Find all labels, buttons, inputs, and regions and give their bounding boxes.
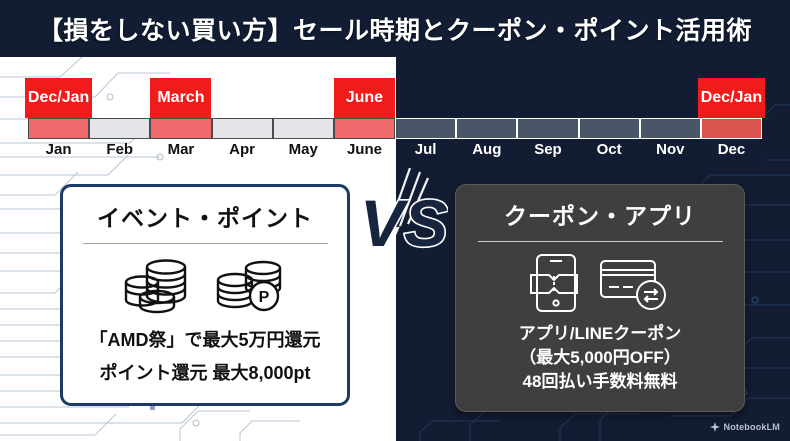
timeline-cell-oct (579, 118, 640, 139)
card-left-title: イベント・ポイント (97, 199, 313, 233)
card-event-points: イベント・ポイント (60, 184, 350, 406)
card-left-icons: P (123, 254, 287, 316)
timeline-month-label-jan: Jan (28, 140, 89, 160)
timeline-month-label-jul: Jul (395, 140, 456, 160)
card-right-line-0: アプリ/LINEクーポン (519, 322, 681, 346)
timeline-cell-apr (212, 118, 273, 139)
card-right-lines: アプリ/LINEクーポン（最大5,000円OFF）48回払い手数料無料 (456, 322, 744, 394)
timeline: Dec/JanMarchJuneDec/Jan JanFebMarAprMayJ… (28, 78, 762, 158)
coin-stack-icon (123, 256, 201, 314)
timeline-month-label-may: May (273, 140, 334, 160)
card-right-title: クーポン・アプリ (504, 197, 696, 231)
timeline-month-label-feb: Feb (89, 140, 150, 160)
card-left-divider (83, 243, 328, 244)
point-coin-icon: P (215, 256, 287, 314)
timeline-cell-sep (517, 118, 578, 139)
credit-card-exchange-icon (599, 253, 671, 313)
timeline-badge-1: March (150, 78, 211, 118)
timeline-badge-3: Dec/Jan (698, 78, 765, 118)
page-title: 【損をしない買い方】セール時期とクーポン・ポイント活用術 (38, 11, 752, 47)
timeline-cell-feb (89, 118, 150, 139)
header-bar: 【損をしない買い方】セール時期とクーポン・ポイント活用術 (0, 0, 790, 57)
card-left-lines: 「AMD祭」で最大5万円還元ポイント還元 最大8,000pt (63, 324, 347, 391)
vs-badge: VS (358, 168, 448, 280)
timeline-month-labels: JanFebMarAprMayJuneJulAugSepOctNovDec (28, 140, 762, 160)
lightning-bolt-icon: VS (358, 168, 448, 280)
card-right-icons (529, 252, 671, 314)
timeline-badge-2: June (334, 78, 395, 118)
timeline-cell-dec (701, 118, 762, 139)
timeline-month-label-dec: Dec (701, 140, 762, 160)
timeline-month-label-mar: Mar (150, 140, 211, 160)
timeline-cell-mar (150, 118, 211, 139)
card-right-divider (478, 241, 723, 242)
timeline-month-label-sep: Sep (517, 140, 578, 160)
smartphone-coupon-icon (529, 253, 585, 313)
watermark-label: NotebookLM (724, 422, 781, 432)
card-coupon-app: クーポン・アプリ (455, 184, 745, 412)
notebooklm-logo-icon (710, 422, 720, 432)
card-left-line-0: 「AMD祭」で最大5万円還元 (89, 324, 320, 357)
timeline-month-label-oct: Oct (579, 140, 640, 160)
timeline-badge-0: Dec/Jan (25, 78, 92, 118)
infographic-stage: 【損をしない買い方】セール時期とクーポン・ポイント活用術 (0, 0, 790, 441)
timeline-cell-jul (395, 118, 456, 139)
timeline-month-label-apr: Apr (212, 140, 273, 160)
timeline-bar (28, 118, 762, 139)
svg-text:P: P (259, 289, 270, 306)
timeline-cell-may (273, 118, 334, 139)
timeline-month-label-june: June (334, 140, 395, 160)
vs-label: VS (360, 186, 448, 260)
timeline-cell-nov (640, 118, 701, 139)
timeline-cell-aug (456, 118, 517, 139)
watermark: NotebookLM (710, 422, 781, 432)
timeline-month-label-aug: Aug (456, 140, 517, 160)
timeline-cell-june (334, 118, 395, 139)
timeline-cell-jan (28, 118, 89, 139)
card-right-line-2: 48回払い手数料無料 (523, 370, 678, 394)
card-right-line-1: （最大5,000円OFF） (519, 346, 681, 370)
timeline-badges: Dec/JanMarchJuneDec/Jan (28, 78, 762, 118)
card-left-line-1: ポイント還元 最大8,000pt (99, 357, 310, 390)
timeline-month-label-nov: Nov (640, 140, 701, 160)
